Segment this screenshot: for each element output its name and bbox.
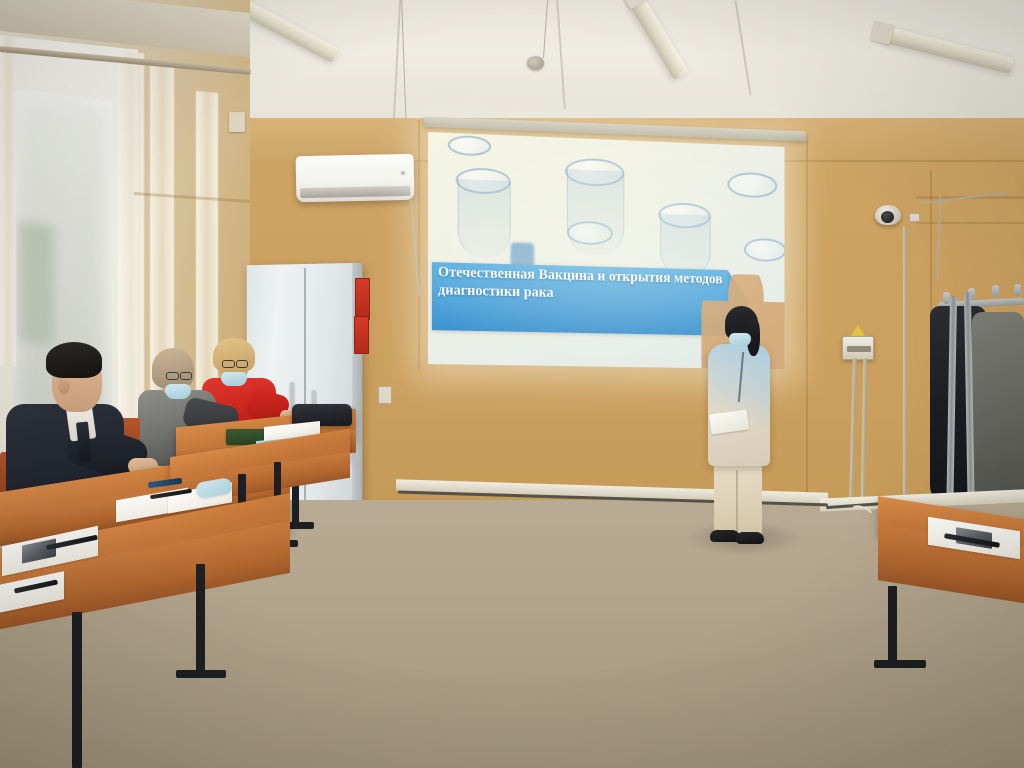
camera-wall-socket: [909, 213, 920, 222]
projector-light-on-coat: [708, 344, 770, 466]
desk-front-foot-1: [176, 670, 226, 678]
presenter-lab-coat: [708, 344, 770, 466]
coat-rack-hook-3[interactable]: [992, 285, 999, 297]
man-ear: [58, 378, 70, 394]
curtain-left: [0, 35, 16, 367]
gray-attendee-glasses: [166, 372, 179, 380]
wall-outlet[interactable]: [378, 386, 392, 404]
man-hair: [46, 342, 102, 378]
classroom-presentation-photo: Отечественная Вакцина и открытия методов…: [0, 0, 1024, 768]
wall-panel-line-1: [418, 120, 420, 370]
ceiling-anchor-knob: [527, 56, 544, 70]
presenter-trouser-split: [736, 470, 738, 536]
gray-attendee-mask: [165, 384, 191, 399]
wall-panel-line-2: [806, 140, 808, 500]
slide-tube-body-1: [458, 179, 511, 258]
high-voltage-warning-icon: [851, 325, 865, 336]
electrical-box-slot: [847, 346, 871, 352]
gray-attendee-glasses-right: [180, 372, 192, 380]
desk-front-leg-1: [196, 564, 205, 676]
curtain-rail-bracket: [229, 112, 245, 132]
ac-vent: [300, 186, 410, 198]
desk-front-leg-2: [72, 612, 82, 768]
wall-ledge-right-2: [916, 222, 1024, 224]
coat-rack-hook-4[interactable]: [1014, 284, 1021, 296]
desk-right-leg-1: [888, 586, 897, 666]
desk-right-foot-1: [874, 660, 926, 668]
slide-title: Отечественная Вакцина и открытия методов…: [438, 264, 726, 306]
gray-coat: [972, 312, 1024, 516]
ac-led-icon: [401, 171, 405, 175]
conduit-vertical-tall: [903, 226, 907, 504]
presenter: [700, 300, 796, 550]
air-conditioner: [296, 154, 415, 202]
electrical-box: [842, 336, 874, 360]
presenter-shoe-right: [736, 532, 764, 544]
fire-safety-sign-lower: [354, 316, 369, 354]
fire-safety-sign-upper: [355, 278, 370, 320]
presenter-face-mask: [729, 333, 751, 347]
camera-lens-icon: [881, 211, 894, 223]
